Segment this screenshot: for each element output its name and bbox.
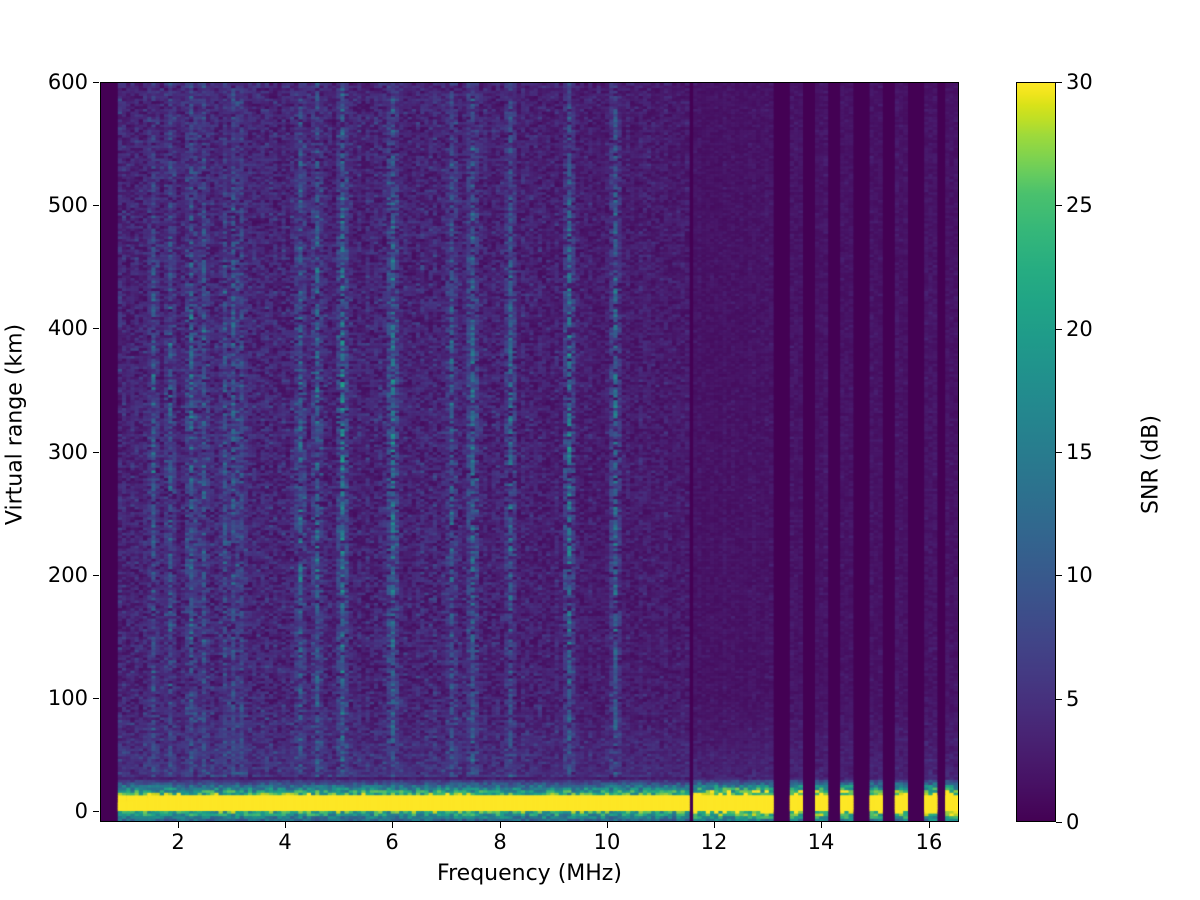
y-tick-mark-100 — [93, 698, 99, 699]
colorbar-gradient[interactable] — [1016, 82, 1056, 822]
colorbar-tick-mark-15 — [1056, 452, 1062, 453]
colorbar-tick-mark-20 — [1056, 329, 1062, 330]
ionogram-heatmap[interactable] — [101, 83, 958, 821]
x-tick-label-4: 4 — [278, 832, 291, 853]
colorbar-tick-label-10: 10 — [1066, 565, 1093, 586]
x-tick-mark-2 — [178, 822, 179, 828]
y-tick-mark-500 — [93, 205, 99, 206]
colorbar-tick-label-0: 0 — [1066, 812, 1079, 833]
colorbar-tick-mark-5 — [1056, 699, 1062, 700]
x-tick-label-12: 12 — [701, 832, 728, 853]
x-tick-mark-10 — [607, 822, 608, 828]
y-tick-label-500: 500 — [48, 195, 88, 216]
y-tick-label-400: 400 — [48, 318, 88, 339]
y-tick-label-0: 0 — [75, 801, 88, 822]
x-tick-mark-8 — [500, 822, 501, 828]
y-tick-mark-0 — [93, 811, 99, 812]
colorbar-tick-mark-0 — [1056, 822, 1062, 823]
x-tick-mark-12 — [714, 822, 715, 828]
y-tick-label-100: 100 — [48, 688, 88, 709]
colorbar-tick-mark-30 — [1056, 82, 1062, 83]
y-tick-label-300: 300 — [48, 442, 88, 463]
x-tick-label-16: 16 — [916, 832, 943, 853]
colorbar-tick-label-20: 20 — [1066, 319, 1093, 340]
plot-area[interactable] — [100, 82, 959, 822]
x-tick-label-10: 10 — [594, 832, 621, 853]
colorbar-tick-mark-10 — [1056, 575, 1062, 576]
x-tick-label-2: 2 — [171, 832, 184, 853]
colorbar-tick-label-25: 25 — [1066, 195, 1093, 216]
colorbar-label: SNR (dB) — [1139, 315, 1164, 615]
x-tick-mark-16 — [929, 822, 930, 828]
y-tick-label-200: 200 — [48, 565, 88, 586]
colorbar-tick-label-30: 30 — [1066, 72, 1093, 93]
x-tick-label-8: 8 — [493, 832, 506, 853]
x-tick-label-14: 14 — [808, 832, 835, 853]
y-tick-mark-600 — [93, 82, 99, 83]
y-tick-mark-300 — [93, 452, 99, 453]
colorbar-tick-mark-25 — [1056, 205, 1062, 206]
y-tick-label-600: 600 — [48, 72, 88, 93]
y-axis-label: Virtual range (km) — [3, 275, 28, 575]
colorbar-tick-label-15: 15 — [1066, 442, 1093, 463]
x-tick-label-6: 6 — [385, 832, 398, 853]
x-tick-mark-4 — [285, 822, 286, 828]
colorbar-tick-label-5: 5 — [1066, 689, 1079, 710]
y-tick-mark-400 — [93, 328, 99, 329]
x-tick-mark-14 — [821, 822, 822, 828]
y-tick-mark-200 — [93, 575, 99, 576]
ionogram-figure: IRF Uppsala SDR Ionosonde UP158 2025-11-… — [0, 0, 1200, 900]
x-axis-label: Frequency (MHz) — [100, 861, 959, 886]
x-tick-mark-6 — [392, 822, 393, 828]
